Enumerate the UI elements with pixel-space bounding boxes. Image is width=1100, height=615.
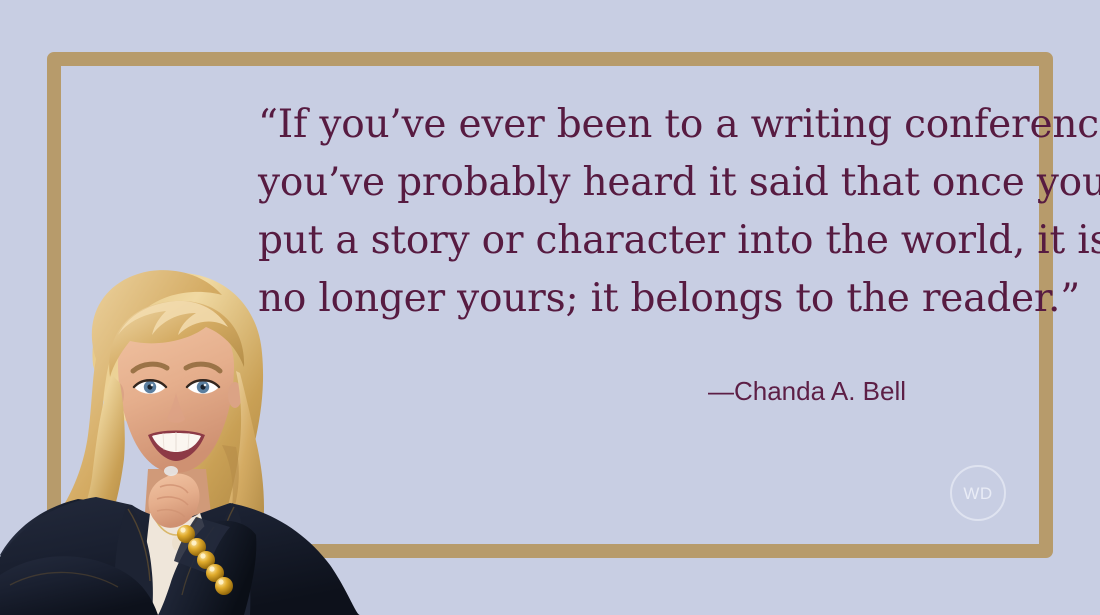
wd-logo-text: WD: [963, 485, 992, 502]
gold-button-3: [197, 551, 215, 569]
gold-buttons: [177, 525, 233, 595]
lapel-stitch-right: [214, 507, 234, 581]
sleeve-cuff: [174, 517, 230, 573]
quote-text: “If you’ve ever been to a writing confer…: [258, 96, 1018, 328]
finger-crease-1: [160, 485, 188, 493]
hand: [148, 474, 199, 528]
gold-button-4: [206, 564, 224, 582]
finger-crease-2: [157, 497, 188, 505]
quote-line-3: put a story or character into the world,…: [258, 212, 1018, 270]
hair-back-left: [56, 270, 222, 535]
lapel-right: [211, 503, 250, 615]
eyebrow-left: [133, 364, 167, 371]
blazer-torso: [0, 497, 360, 615]
necklace: [154, 517, 198, 535]
quote-card: “If you’ve ever been to a writing confer…: [0, 0, 1100, 615]
hair-left-sweep: [68, 375, 125, 547]
finger-crease-3: [157, 510, 185, 517]
ear-right: [228, 382, 242, 408]
lapel-stitch-left: [128, 509, 150, 581]
hair-highlight: [118, 301, 228, 335]
face: [118, 311, 234, 473]
wd-logo[interactable]: WD: [950, 465, 1006, 521]
quote-line-1: “If you’ve ever been to a writing confer…: [258, 96, 1018, 154]
gold-button-1: [177, 525, 195, 543]
ring: [164, 466, 178, 476]
gold-button-2: [188, 538, 206, 556]
sleeve-stitch: [182, 527, 214, 595]
hair-fringe: [109, 301, 244, 377]
mouth: [148, 431, 205, 462]
arm-stitch: [10, 572, 118, 587]
neck: [144, 469, 212, 527]
ear-left: [110, 382, 124, 408]
hair-wave-shadow: [222, 445, 239, 527]
inner-top: [142, 513, 214, 615]
eye-right: [187, 380, 219, 394]
blazer-sleeve-right: [158, 521, 256, 615]
hair-back-right: [92, 273, 263, 547]
blazer-arm-left: [0, 556, 158, 615]
nose: [167, 393, 185, 423]
gold-button-5: [215, 577, 233, 595]
quote-attribution: —Chanda A. Bell: [258, 374, 1018, 408]
quote-line-2: you’ve probably heard it said that once …: [258, 154, 1018, 212]
necklace-pendant: [172, 536, 180, 550]
quote-line-4: no longer yours; it belongs to the reade…: [258, 270, 1018, 328]
eye-left: [134, 380, 166, 394]
eyebrow-right: [186, 364, 220, 371]
lapel-left: [114, 505, 152, 615]
blazer-shoulder-left: [0, 499, 112, 615]
